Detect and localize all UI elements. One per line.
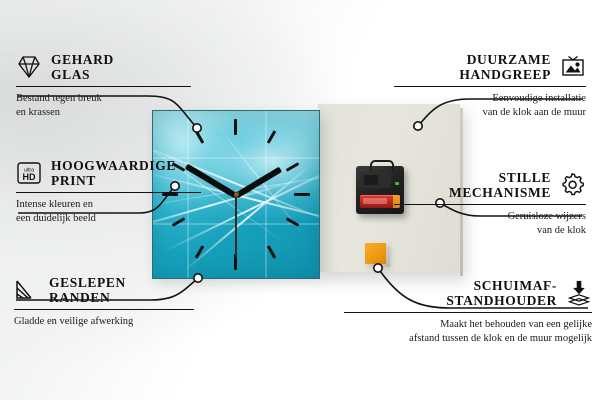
divider [344,312,592,313]
divider [394,86,586,87]
feature-title: DUURZAME HANDGREEP [459,52,551,82]
feature-title: SCHUIMAF- STANDHOUDER [446,278,557,308]
clock-tick [286,217,300,227]
clock-second-hand [235,195,237,257]
clock-tick [234,119,237,135]
clock-tick [286,162,300,172]
diamond-icon [16,54,42,80]
gear-icon [560,172,586,198]
feature-title: HOOGWAARDIGE PRINT [51,158,176,188]
divider [394,204,586,205]
clock-tick [267,130,277,144]
beveled-edges-icon [14,277,40,303]
foam-spacer-icon [566,280,592,306]
feature-duurzame-handgreep: DUURZAME HANDGREEP Eenvoudige installati… [394,52,586,119]
foam-spacer [365,243,386,264]
svg-text:HD: HD [23,172,36,182]
wall-hook-icon [370,160,394,171]
feature-hoogwaardige-print: ultra HD HOOGWAARDIGE PRINT Intense kleu… [16,158,201,225]
feature-schuimafstandhouder: SCHUIMAF- STANDHOUDER Maakt het behouden… [344,278,592,345]
feature-title: GEHARD GLAS [51,52,114,82]
ultra-hd-icon: ultra HD [16,160,42,186]
feature-description: Intense kleuren en een duidelijk beeld [16,198,201,225]
feature-description: Gladde en veilige afwerking [14,315,194,328]
feature-description: Maakt het behouden van een gelijke afsta… [344,318,592,345]
feature-geslepen-randen: GESLEPEN RANDEN Gladde en veilige afwerk… [14,275,194,329]
divider [14,309,194,310]
divider [16,86,191,87]
clock-tick [195,130,205,144]
picture-frame-icon [560,54,586,80]
divider [16,192,201,193]
clock-tick [267,245,277,259]
feature-description: Bestand tegen breuk en krassen [16,92,191,119]
mechanism-plate-inner [364,175,378,185]
clock-center-pin [234,192,239,197]
feature-title: GESLEPEN RANDEN [49,275,126,305]
feature-description: Eenvoudige installatie van de klok aan d… [394,92,586,119]
feature-title: STILLE MECHANISME [449,170,551,200]
feature-description: Geruisloze wijzers van de klok [394,210,586,237]
feature-stille-mechanisme: STILLE MECHANISME Geruisloze wijzers van… [394,170,586,237]
infographic-canvas: GEHARD GLAS Bestand tegen breuk en krass… [0,0,600,400]
feature-gehard-glas: GEHARD GLAS Bestand tegen breuk en krass… [16,52,191,119]
clock-tick [294,193,310,196]
